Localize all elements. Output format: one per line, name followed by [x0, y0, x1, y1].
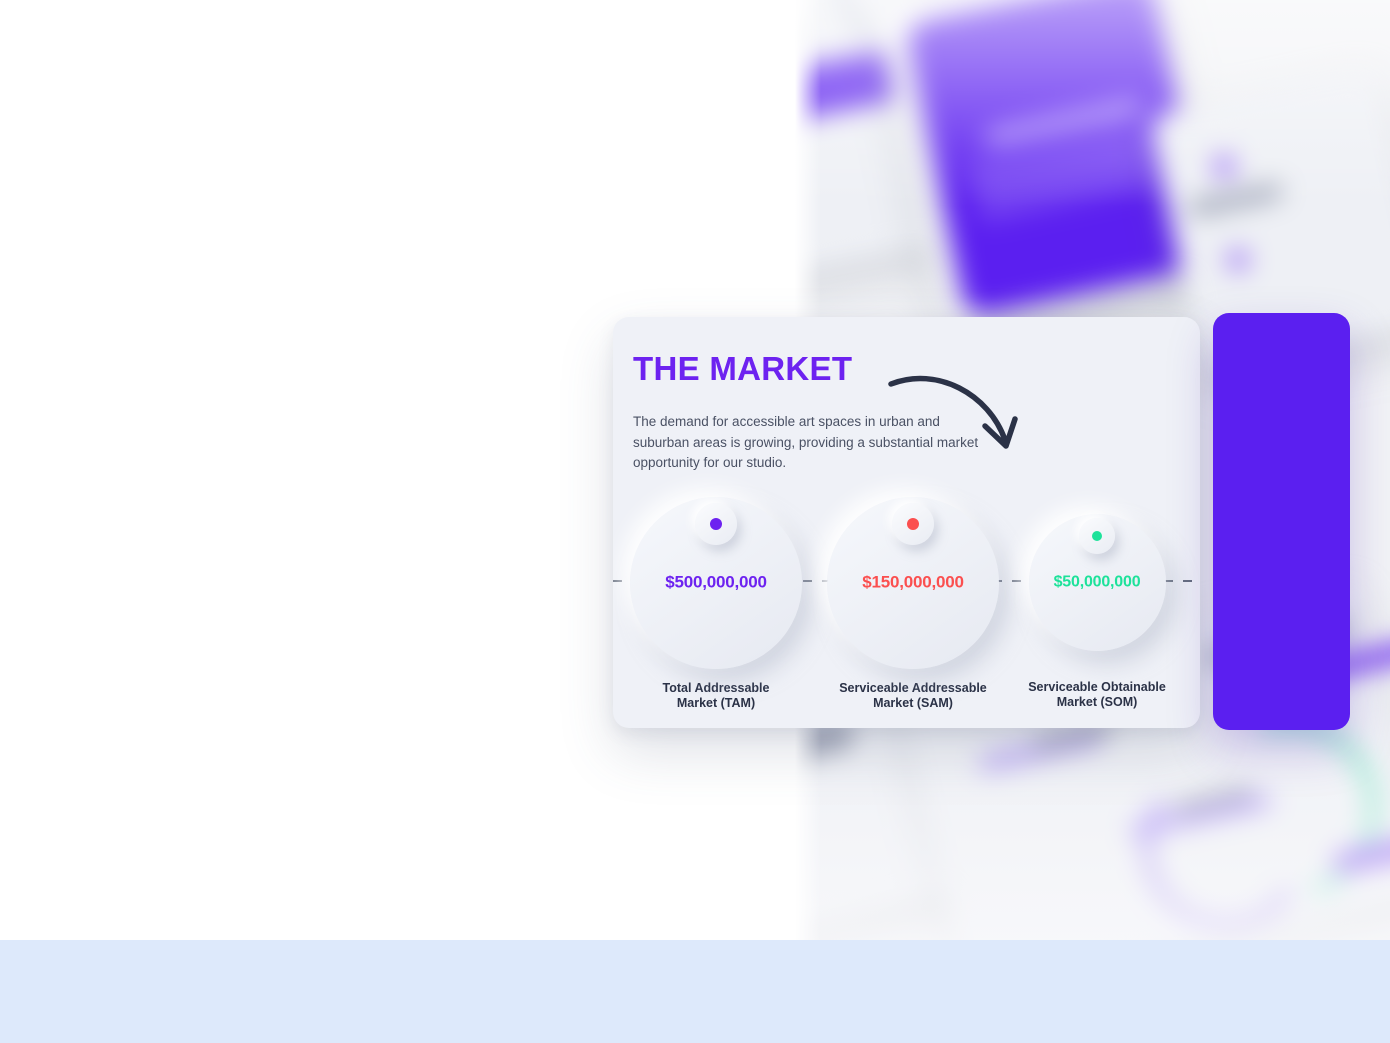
som-label-line2: Market (SOM)	[1007, 695, 1187, 710]
sam-label-line2: Market (SAM)	[823, 696, 1003, 711]
the-market-card: THE MARKET The demand for accessible art…	[613, 317, 1200, 728]
sam-label-line1: Serviceable Addressable	[823, 681, 1003, 696]
sam-dot-pod	[892, 503, 934, 545]
market-segment-som: $50,000,000 Serviceable Obtainable Marke…	[1007, 497, 1187, 711]
purple-accent-slab	[1213, 313, 1350, 730]
bottom-color-band	[0, 940, 1390, 1043]
sam-circle: $150,000,000	[827, 497, 999, 669]
market-segment-tam: $500,000,000 Total Addressable Market (T…	[626, 497, 806, 712]
som-label: Serviceable Obtainable Market (SOM)	[1007, 680, 1187, 711]
tam-color-dot-icon	[710, 518, 722, 530]
som-dot-pod	[1079, 518, 1115, 554]
tam-label: Total Addressable Market (TAM)	[626, 681, 806, 712]
sam-label: Serviceable Addressable Market (SAM)	[823, 681, 1003, 712]
tam-label-line1: Total Addressable	[626, 681, 806, 696]
tam-circle: $500,000,000	[630, 497, 802, 669]
market-segments: $500,000,000 Total Addressable Market (T…	[613, 497, 1200, 712]
tam-label-line2: Market (TAM)	[626, 696, 806, 711]
slide-canvas: Business ^ Idea Kit Market Validation Sh…	[0, 0, 1390, 1043]
som-color-dot-icon	[1092, 531, 1102, 541]
sam-value: $150,000,000	[827, 573, 999, 593]
tam-dot-pod	[695, 503, 737, 545]
curved-arrow-down-right-icon	[885, 362, 1025, 472]
tam-value: $500,000,000	[630, 573, 802, 593]
som-value: $50,000,000	[1029, 573, 1166, 591]
market-segment-sam: $150,000,000 Serviceable Addressable Mar…	[823, 497, 1003, 712]
som-label-line1: Serviceable Obtainable	[1007, 680, 1187, 695]
som-circle: $50,000,000	[1029, 514, 1166, 651]
sam-color-dot-icon	[907, 518, 919, 530]
card-title: THE MARKET	[633, 350, 852, 388]
